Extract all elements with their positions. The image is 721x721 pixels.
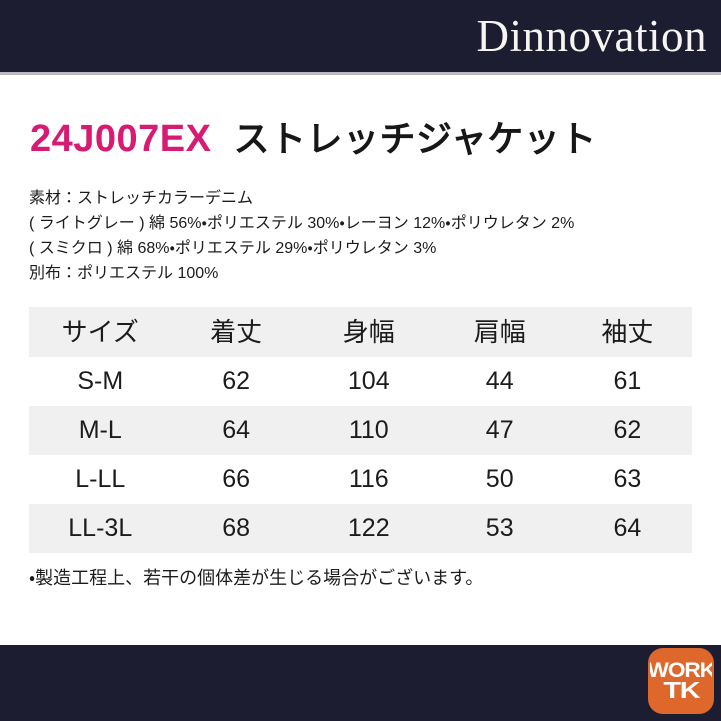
column-header-shoulder: 肩幅 bbox=[437, 307, 563, 357]
cell-size: M-L bbox=[29, 406, 172, 455]
product-spec-sheet: Dinnovation 24J007EX ストレッチジャケット 素材：ストレッチ… bbox=[0, 0, 721, 721]
cell-sleeve: 63 bbox=[563, 455, 692, 504]
cell-length: 66 bbox=[172, 455, 301, 504]
table-row: L-LL 66 116 50 63 bbox=[29, 455, 692, 504]
cell-length: 62 bbox=[172, 357, 301, 406]
product-code: 24J007EX bbox=[30, 120, 212, 158]
logo-bottom-text: TK bbox=[663, 680, 699, 701]
cell-sleeve: 62 bbox=[563, 406, 692, 455]
cell-shoulder: 47 bbox=[437, 406, 563, 455]
material-description: 素材：ストレッチカラーデニム ( ライトグレー ) 綿 56%・ポリエステル 3… bbox=[29, 186, 699, 286]
cell-length: 68 bbox=[172, 504, 301, 553]
cell-shoulder: 44 bbox=[437, 357, 563, 406]
material-line: ( スミクロ ) 綿 68%・ポリエステル 29%・ポリウレタン 3% bbox=[29, 236, 699, 261]
cell-size: S-M bbox=[29, 357, 172, 406]
cell-width: 110 bbox=[301, 406, 437, 455]
column-header-width: 身幅 bbox=[301, 307, 437, 357]
material-line: 別布：ポリエステル 100% bbox=[29, 261, 699, 286]
cell-length: 64 bbox=[172, 406, 301, 455]
table-row: S-M 62 104 44 61 bbox=[29, 357, 692, 406]
product-title: 24J007EX ストレッチジャケット bbox=[30, 120, 597, 158]
table-header-row: サイズ 着丈 身幅 肩幅 袖丈 bbox=[29, 307, 692, 357]
material-line: 素材：ストレッチカラーデニム bbox=[29, 186, 699, 211]
cell-shoulder: 53 bbox=[437, 504, 563, 553]
cell-size: LL-3L bbox=[29, 504, 172, 553]
header-divider-rule bbox=[0, 72, 721, 75]
cell-width: 104 bbox=[301, 357, 437, 406]
column-header-size: サイズ bbox=[29, 307, 172, 357]
cell-width: 122 bbox=[301, 504, 437, 553]
table-row: M-L 64 110 47 62 bbox=[29, 406, 692, 455]
column-header-length: 着丈 bbox=[172, 307, 301, 357]
table-row: LL-3L 68 122 53 64 bbox=[29, 504, 692, 553]
footer-band bbox=[0, 645, 721, 721]
footnote-text: ・製造工程上、若干の個体差が生じる場合がございます。 bbox=[29, 565, 483, 591]
cell-size: L-LL bbox=[29, 455, 172, 504]
work-tk-logo-icon: WORK TK bbox=[650, 650, 712, 712]
cell-width: 116 bbox=[301, 455, 437, 504]
cell-sleeve: 64 bbox=[563, 504, 692, 553]
product-name: ストレッチジャケット bbox=[234, 121, 597, 157]
cell-sleeve: 61 bbox=[563, 357, 692, 406]
brand-name: Dinnovation bbox=[477, 14, 707, 59]
cell-shoulder: 50 bbox=[437, 455, 563, 504]
brand-header-band: Dinnovation bbox=[0, 0, 721, 72]
material-line: ( ライトグレー ) 綿 56%・ポリエステル 30%・レーヨン 12%・ポリウ… bbox=[29, 211, 699, 236]
column-header-sleeve: 袖丈 bbox=[563, 307, 692, 357]
size-table: サイズ 着丈 身幅 肩幅 袖丈 S-M 62 104 44 61 M-L 64 … bbox=[29, 307, 692, 553]
